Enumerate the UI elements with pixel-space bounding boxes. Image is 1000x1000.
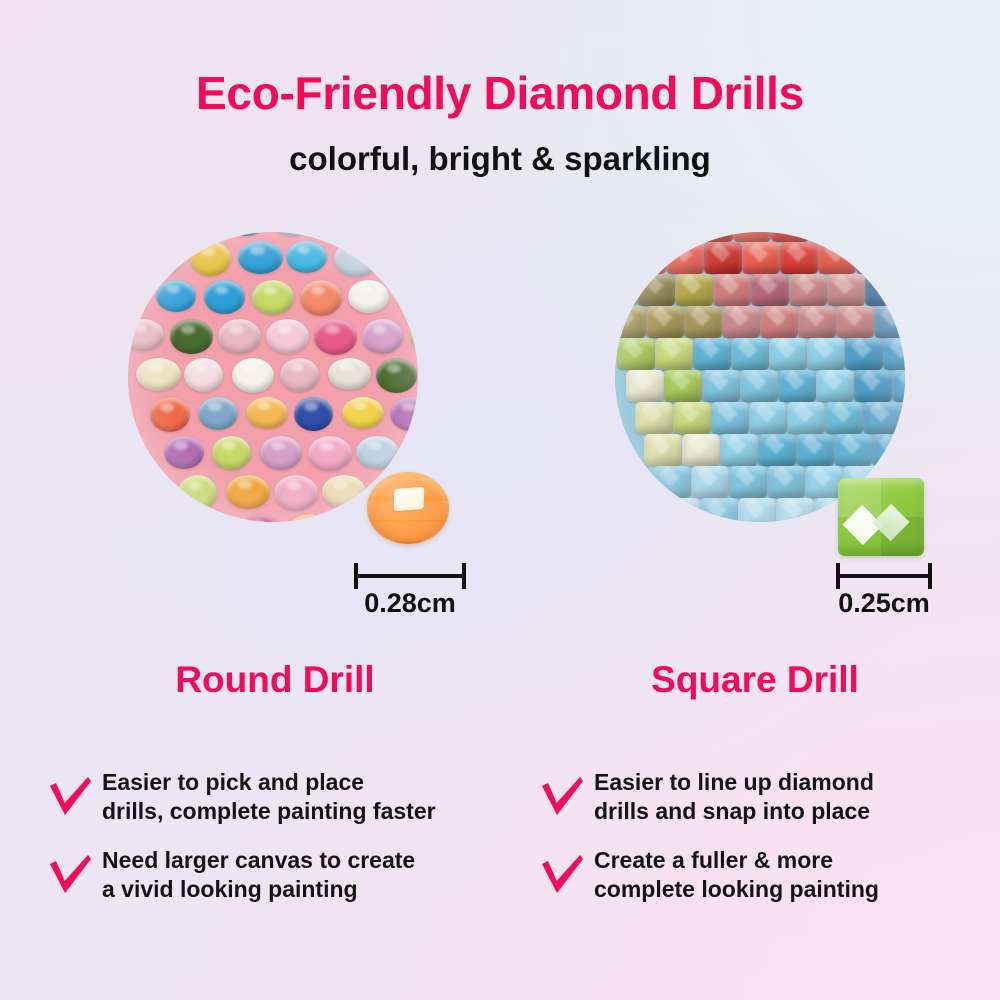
square-drill-bead (657, 232, 695, 242)
list-item-line1: Easier to pick and place (102, 769, 364, 795)
square-drill-bead (856, 242, 894, 274)
square-drill-bead (729, 466, 767, 498)
square-drill-bead (702, 370, 740, 402)
round-drill-bead (322, 475, 366, 508)
square-drill-bead (776, 498, 814, 522)
square-drill-bead (760, 306, 798, 338)
round-drill-bead (252, 280, 294, 315)
page-subtitle: colorful, bright & sparkling (0, 140, 1000, 178)
square-drill-bead (673, 402, 711, 434)
square-drill-bead (767, 466, 805, 498)
round-drill-bead (212, 436, 251, 470)
round-drill-bead (308, 436, 352, 471)
square-drill-bead (854, 370, 892, 402)
square-drill-bead (769, 338, 807, 370)
square-drill-bead (863, 402, 901, 434)
measure-line (836, 574, 932, 578)
square-drill-bead (733, 232, 771, 242)
round-drill-bead (142, 241, 184, 274)
list-item: Easier to pick and place drills, complet… (46, 766, 516, 826)
round-drill-bead (260, 436, 302, 470)
round-drill-bead (280, 358, 319, 392)
round-drill-bead (128, 319, 164, 351)
round-drill-bead (184, 358, 223, 392)
round-drill-bead (246, 397, 288, 429)
square-drill-bead (847, 232, 885, 242)
square-drill-bead (666, 242, 704, 274)
list-item-line2: drills, complete painting faster (102, 798, 436, 824)
list-item-line1: Need larger canvas to create (102, 847, 415, 873)
square-drill-heading: Square Drill (590, 659, 920, 701)
square-drill-bead (742, 242, 780, 274)
list-item: Easier to line up diamond drills and sna… (538, 766, 988, 826)
round-drill-bead (348, 280, 389, 313)
square-drill-bead (738, 498, 776, 522)
square-drill-bead (615, 306, 646, 338)
round-measure-bar (354, 563, 466, 589)
list-item-line1: Easier to line up diamond (594, 769, 874, 795)
square-drill-bead (771, 232, 809, 242)
round-drill-bead (376, 358, 417, 393)
list-item-line2: complete looking painting (594, 876, 879, 902)
square-drill-bead (615, 274, 637, 306)
square-measure-label: 0.25cm (804, 588, 964, 619)
square-drill-bead (637, 274, 675, 306)
square-drill-bead (655, 338, 693, 370)
square-drill-bead (722, 306, 760, 338)
round-drill-bead (300, 280, 342, 316)
square-drill-bead (778, 370, 816, 402)
round-drill-sample (367, 472, 449, 544)
round-drill-bead (164, 436, 204, 469)
square-drill-bead (691, 466, 729, 498)
square-drill-bead (809, 232, 847, 242)
round-drill-feature-list: Easier to pick and place drills, complet… (46, 766, 516, 922)
round-drill-bead (356, 436, 399, 469)
square-drill-bead (798, 306, 836, 338)
square-drill-bead (675, 274, 713, 306)
square-drill-bead (780, 242, 818, 274)
square-drill-bead (827, 274, 865, 306)
round-drill-bead (178, 475, 217, 511)
round-drill-bead (150, 397, 190, 432)
square-drill-bead (693, 338, 731, 370)
square-drill-bead (903, 274, 905, 306)
round-drill-bead (286, 241, 327, 273)
round-drill-bead (382, 241, 418, 274)
list-item: Need larger canvas to create a vivid loo… (46, 844, 516, 904)
square-drill-bead (845, 338, 883, 370)
page-title: Eco-Friendly Diamond Drills (0, 66, 1000, 120)
square-drill-bead (787, 402, 825, 434)
round-drill-bead (314, 319, 357, 355)
square-drill-bead (894, 242, 905, 274)
measure-cap-right (928, 563, 932, 589)
square-drill-bead (700, 498, 738, 522)
square-drill-bead (872, 434, 905, 466)
round-drill-bead (238, 241, 283, 274)
square-drill-bead (664, 370, 702, 402)
square-drill-bead (789, 274, 827, 306)
square-drill-bead (751, 274, 789, 306)
square-drill-bead (816, 370, 854, 402)
square-drill-bead (713, 274, 751, 306)
round-drill-bead (156, 280, 196, 312)
round-drill-bead (342, 397, 384, 429)
square-drill-bead (749, 402, 787, 434)
square-drill-sample (838, 478, 924, 556)
round-drill-bead (226, 475, 270, 509)
round-drill-bead (190, 241, 231, 276)
square-drill-bead (682, 434, 720, 466)
square-drill-bead (619, 232, 657, 242)
square-drill-feature-list: Easier to line up diamond drills and sna… (538, 766, 988, 922)
round-drill-bead (266, 319, 309, 354)
square-drill-bead (758, 434, 796, 466)
square-drill-bead (892, 370, 905, 402)
square-drill-bead (796, 434, 834, 466)
square-drill-bead (635, 402, 673, 434)
list-item-line2: a vivid looking painting (102, 876, 358, 902)
list-item-line1: Create a fuller & more (594, 847, 833, 873)
check-icon (538, 770, 586, 822)
square-drill-bead (901, 402, 905, 434)
list-item: Create a fuller & more complete looking … (538, 844, 988, 904)
square-drill-bead (825, 402, 863, 434)
round-drill-bead (136, 358, 181, 391)
round-drill-bead (170, 319, 213, 354)
square-drill-bead (834, 434, 872, 466)
measure-cap-right (462, 563, 466, 589)
square-drill-bead (865, 274, 903, 306)
square-drill-bead (731, 338, 769, 370)
square-drill-bead (644, 434, 682, 466)
square-drill-bead (807, 338, 845, 370)
square-drill-bead (883, 338, 905, 370)
square-drill-bead (711, 402, 749, 434)
square-drill-bead (615, 242, 628, 274)
square-drill-bead (836, 306, 874, 338)
round-drill-bead (218, 319, 261, 354)
list-item-text: Create a fuller & more complete looking … (594, 844, 879, 904)
round-drill-heading: Round Drill (110, 659, 440, 701)
check-icon (538, 848, 586, 900)
square-drill-bead (885, 232, 905, 242)
infographic-page: Eco-Friendly Diamond Drills colorful, br… (0, 0, 1000, 1000)
round-drill-bead (204, 280, 245, 314)
square-drill-bead (740, 370, 778, 402)
round-drill-bead (334, 241, 379, 277)
square-drill-bead (818, 242, 856, 274)
square-drill-bead (704, 242, 742, 274)
round-drill-bead (294, 397, 333, 431)
square-drill-bead (646, 306, 684, 338)
round-drill-bead (240, 514, 281, 522)
square-drill-bead (720, 434, 758, 466)
square-drill-bead (874, 306, 905, 338)
list-item-text: Easier to pick and place drills, complet… (102, 766, 436, 826)
round-measure-label: 0.28cm (330, 588, 490, 619)
round-drill-bead (328, 358, 371, 390)
square-drill-bead (626, 370, 664, 402)
square-drill-bead (617, 338, 655, 370)
check-icon (46, 770, 94, 822)
list-item-line2: drills and snap into place (594, 798, 870, 824)
square-drill-bead (684, 306, 722, 338)
square-drill-bead (653, 466, 691, 498)
list-item-text: Easier to line up diamond drills and sna… (594, 766, 874, 826)
round-drill-bead (274, 475, 318, 511)
drill-table-facet (394, 487, 424, 511)
square-drill-bead (628, 242, 666, 274)
square-drill-bead (662, 498, 700, 522)
check-icon (46, 848, 94, 900)
round-drill-bead (362, 319, 403, 354)
list-item-text: Need larger canvas to create a vivid loo… (102, 844, 415, 904)
square-drill-bead (695, 232, 733, 242)
round-drill-bead (390, 397, 418, 431)
square-measure-bar (836, 563, 932, 589)
measure-line (354, 574, 466, 578)
round-drill-bead (232, 358, 274, 393)
round-drill-bead (198, 397, 238, 430)
